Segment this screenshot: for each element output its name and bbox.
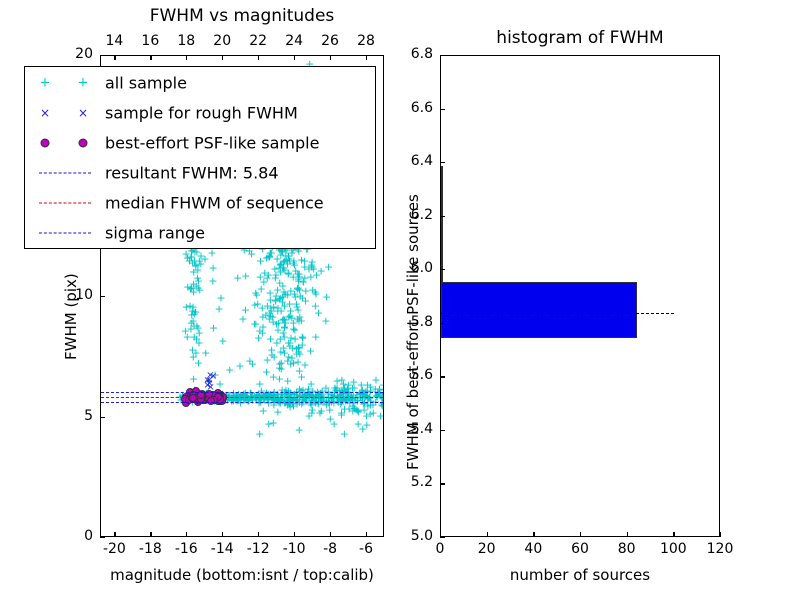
axis-tick <box>186 532 187 537</box>
reference-line-median-fhwm-of-sequence <box>101 397 383 398</box>
axis-tick-label: 5.4 <box>411 421 433 437</box>
scatter-point-all-sample: + <box>295 284 304 295</box>
legend-entry: ++all sample <box>25 68 375 98</box>
scatter-point-all-sample: + <box>362 411 371 422</box>
axis-tick-label: -12 <box>247 541 270 557</box>
axis-tick-label: 60 <box>571 541 589 557</box>
axis-tick <box>440 162 445 163</box>
axis-tick <box>580 532 581 537</box>
plot-legend: ++all sample××sample for rough FWHMbest-… <box>24 66 376 249</box>
scatter-point-all-sample: + <box>316 389 325 400</box>
left-plot-title: FWHM vs magnitudes <box>150 6 335 26</box>
right-plot-title: histogram of FWHM <box>496 28 663 48</box>
axis-tick-label: 18 <box>177 33 195 49</box>
axis-tick <box>440 109 445 110</box>
cross-icon: × <box>40 107 50 119</box>
scatter-point-all-sample: + <box>324 261 333 272</box>
scatter-point-all-sample: + <box>321 315 330 326</box>
circle-icon <box>79 139 88 148</box>
scatter-point-all-sample: + <box>195 284 204 295</box>
scatter-point-all-sample: + <box>251 318 260 329</box>
dashed-line-icon <box>39 173 91 174</box>
scatter-point-all-sample: + <box>306 346 315 357</box>
axis-tick-label: -8 <box>323 541 337 557</box>
scatter-point-all-sample: + <box>289 271 298 282</box>
axis-tick <box>330 55 331 60</box>
axis-tick <box>186 55 187 60</box>
scatter-point-all-sample: + <box>225 364 234 375</box>
axis-tick <box>440 537 445 538</box>
axis-tick <box>440 323 445 324</box>
axis-tick <box>100 296 105 297</box>
axis-tick-label: -16 <box>175 541 198 557</box>
scatter-point-all-sample: + <box>297 255 306 266</box>
scatter-point-all-sample: + <box>274 317 283 328</box>
axis-tick-label: 6.0 <box>411 260 433 276</box>
scatter-point-all-sample: + <box>312 270 321 281</box>
axis-tick <box>100 417 105 418</box>
axis-tick-label: -10 <box>283 541 306 557</box>
axis-tick <box>114 532 115 537</box>
scatter-point-all-sample: + <box>283 375 292 386</box>
legend-entry: ××sample for rough FWHM <box>25 98 375 128</box>
axis-tick <box>100 537 105 538</box>
scatter-point-all-sample: + <box>262 366 271 377</box>
legend-entry: median FHWM of sequence <box>25 188 375 218</box>
plus-icon: + <box>78 77 89 90</box>
scatter-point-all-sample: + <box>259 405 268 416</box>
reference-line-sigma-range-upper <box>101 392 383 393</box>
axis-tick-label: 100 <box>660 541 687 557</box>
scatter-point-all-sample: + <box>209 323 218 334</box>
legend-label: all sample <box>105 74 187 93</box>
axis-tick-label: 20 <box>75 46 93 62</box>
axis-tick <box>440 483 445 484</box>
axis-tick-label: 0 <box>84 528 93 544</box>
reference-line-sigma-range-lower <box>101 402 383 403</box>
axis-tick <box>330 532 331 537</box>
axis-tick-label: 22 <box>249 33 267 49</box>
axis-tick-label: 5.0 <box>411 528 433 544</box>
scatter-point-all-sample: + <box>214 304 223 315</box>
axis-tick-label: 14 <box>105 33 123 49</box>
cross-icon: × <box>78 107 88 119</box>
axis-tick <box>440 216 445 217</box>
axis-tick-label: -14 <box>211 541 234 557</box>
scatter-point-all-sample: + <box>289 323 298 334</box>
scatter-point-all-sample: + <box>295 425 304 436</box>
scatter-point-all-sample: + <box>201 348 210 359</box>
scatter-point-all-sample: + <box>311 288 320 299</box>
axis-tick <box>150 532 151 537</box>
right-histogram-axes <box>440 55 720 537</box>
scatter-point-all-sample: + <box>187 310 196 321</box>
axis-tick <box>114 55 115 60</box>
scatter-point-all-sample: + <box>189 373 198 384</box>
scatter-point-all-sample: + <box>216 292 225 303</box>
axis-tick <box>258 55 259 60</box>
axis-tick <box>294 532 295 537</box>
axis-tick <box>294 55 295 60</box>
scatter-point-all-sample: + <box>271 269 280 280</box>
scatter-point-all-sample: + <box>192 321 201 332</box>
axis-tick-label: 20 <box>213 33 231 49</box>
axis-tick-label: 5.2 <box>411 474 433 490</box>
scatter-point-all-sample: + <box>276 334 285 345</box>
scatter-point-all-sample: + <box>183 331 192 342</box>
axis-tick-label: 5.8 <box>411 314 433 330</box>
scatter-point-all-sample: + <box>271 296 280 307</box>
legend-entry: best-effort PSF-like sample <box>25 128 375 158</box>
axis-tick-label: 80 <box>618 541 636 557</box>
axis-tick <box>440 430 445 431</box>
axis-tick <box>673 532 674 537</box>
scatter-point-all-sample: + <box>297 315 306 326</box>
scatter-point-all-sample: + <box>283 289 292 300</box>
dashdot-line-icon <box>39 233 91 234</box>
axis-tick <box>440 376 445 377</box>
legend-entry: sigma range <box>25 218 375 248</box>
axis-tick-label: 28 <box>357 33 375 49</box>
legend-label: resultant FWHM: 5.84 <box>105 164 279 183</box>
axis-tick-label: -20 <box>103 541 126 557</box>
scatter-point-all-sample: + <box>340 428 349 439</box>
axis-tick-label: 16 <box>141 33 159 49</box>
right-xaxis-label: number of sources <box>510 566 650 584</box>
scatter-point-all-sample: + <box>218 335 227 346</box>
scatter-point-all-sample: + <box>269 417 278 428</box>
scatter-point-all-sample: + <box>208 275 217 286</box>
scatter-point-all-sample: + <box>248 359 257 370</box>
axis-tick <box>222 532 223 537</box>
scatter-point-all-sample: + <box>241 271 250 282</box>
axis-tick-label: 0 <box>436 541 445 557</box>
scatter-point-all-sample: + <box>188 345 197 356</box>
scatter-point-all-sample: + <box>235 360 244 371</box>
legend-label: sample for rough FWHM <box>105 104 298 123</box>
histogram-bar <box>441 282 637 338</box>
axis-tick-label: -18 <box>139 541 162 557</box>
scatter-point-all-sample: + <box>352 405 361 416</box>
scatter-point-all-sample: + <box>264 252 273 263</box>
scatter-point-all-sample: + <box>200 254 209 265</box>
axis-tick <box>222 55 223 60</box>
scatter-point-all-sample: + <box>255 429 264 440</box>
axis-tick <box>720 532 721 537</box>
axis-tick-label: 6.4 <box>411 153 433 169</box>
axis-tick-label: 6.6 <box>411 100 433 116</box>
legend-label: median FHWM of sequence <box>105 194 324 213</box>
median-fwhm-line <box>441 313 674 314</box>
axis-tick-label: -6 <box>359 541 373 557</box>
scatter-point-all-sample: + <box>269 351 278 362</box>
axis-tick <box>258 532 259 537</box>
axis-tick-label: 5 <box>84 408 93 424</box>
axis-tick-label: 26 <box>321 33 339 49</box>
scatter-point-all-sample: + <box>254 333 263 344</box>
scatter-point-all-sample: + <box>187 252 196 263</box>
scatter-point-all-sample: + <box>326 413 335 424</box>
dashed-line-icon <box>39 203 91 204</box>
axis-tick-label: 20 <box>478 541 496 557</box>
scatter-point-all-sample: + <box>255 379 264 390</box>
axis-tick <box>366 55 367 60</box>
scatter-point-rough-fwhm: × <box>205 376 213 386</box>
scatter-point-all-sample: + <box>251 287 260 298</box>
legend-label: sigma range <box>105 224 205 243</box>
axis-tick-label: 24 <box>285 33 303 49</box>
legend-entry: resultant FWHM: 5.84 <box>25 158 375 188</box>
scatter-point-all-sample: + <box>317 406 326 417</box>
axis-tick-label: 120 <box>707 541 734 557</box>
axis-tick-label: 5.6 <box>411 367 433 383</box>
axis-tick <box>366 532 367 537</box>
scatter-point-all-sample: + <box>311 331 320 342</box>
legend-label: best-effort PSF-like sample <box>105 134 319 153</box>
circle-icon <box>41 139 50 148</box>
scatter-point-all-sample: + <box>322 292 331 303</box>
axis-tick <box>440 55 445 56</box>
left-xaxis-label: magnitude (bottom:isnt / top:calib) <box>110 566 374 584</box>
axis-tick-label: 40 <box>524 541 542 557</box>
scatter-point-all-sample: + <box>241 304 250 315</box>
scatter-point-all-sample: + <box>294 342 303 353</box>
axis-tick-label: 6.8 <box>411 46 433 62</box>
scatter-point-all-sample: + <box>208 262 217 273</box>
scatter-point-all-sample: + <box>253 299 262 310</box>
axis-tick <box>150 55 151 60</box>
axis-tick <box>533 532 534 537</box>
scatter-point-all-sample: + <box>284 253 293 264</box>
axis-tick <box>487 532 488 537</box>
histogram-bar <box>441 166 443 282</box>
scatter-point-all-sample: + <box>295 366 304 377</box>
axis-tick <box>100 55 105 56</box>
plus-icon: + <box>40 77 51 90</box>
axis-tick-label: 10 <box>75 287 93 303</box>
axis-tick <box>627 532 628 537</box>
axis-tick-label: 6.2 <box>411 207 433 223</box>
axis-tick <box>440 269 445 270</box>
